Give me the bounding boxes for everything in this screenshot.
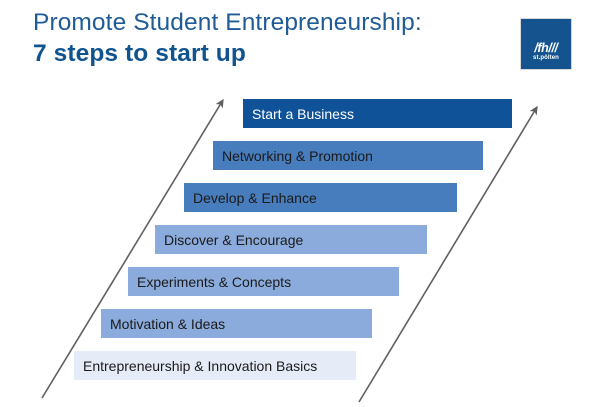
step-bar-label: Discover & Encourage: [155, 232, 303, 248]
step-bar-label: Start a Business: [243, 106, 354, 122]
step-bar[interactable]: Start a Business: [243, 99, 512, 128]
title-block: Promote Student Entrepreneurship: 7 step…: [33, 8, 503, 69]
step-bar-label: Motivation & Ideas: [101, 316, 225, 332]
logo-subtitle: st.pölten: [521, 55, 571, 62]
logo-wordmark: /fh///: [521, 42, 571, 55]
fh-st-poelten-logo: /fh/// st.pölten: [521, 19, 571, 69]
step-bar[interactable]: Motivation & Ideas: [101, 309, 372, 338]
step-bar[interactable]: Develop & Enhance: [184, 183, 457, 212]
step-bar-label: Entrepreneurship & Innovation Basics: [74, 358, 317, 374]
step-bar[interactable]: Entrepreneurship & Innovation Basics: [74, 351, 356, 380]
step-bar[interactable]: Experiments & Concepts: [128, 267, 399, 296]
page-title: Promote Student Entrepreneurship:: [33, 8, 503, 37]
step-bar-label: Experiments & Concepts: [128, 274, 291, 290]
step-bar[interactable]: Networking & Promotion: [213, 141, 483, 170]
slide-canvas: Promote Student Entrepreneurship: 7 step…: [0, 0, 600, 407]
page-subtitle: 7 steps to start up: [33, 39, 503, 69]
step-bar-label: Develop & Enhance: [184, 190, 317, 206]
step-bar[interactable]: Discover & Encourage: [155, 225, 427, 254]
step-bar-label: Networking & Promotion: [213, 148, 373, 164]
